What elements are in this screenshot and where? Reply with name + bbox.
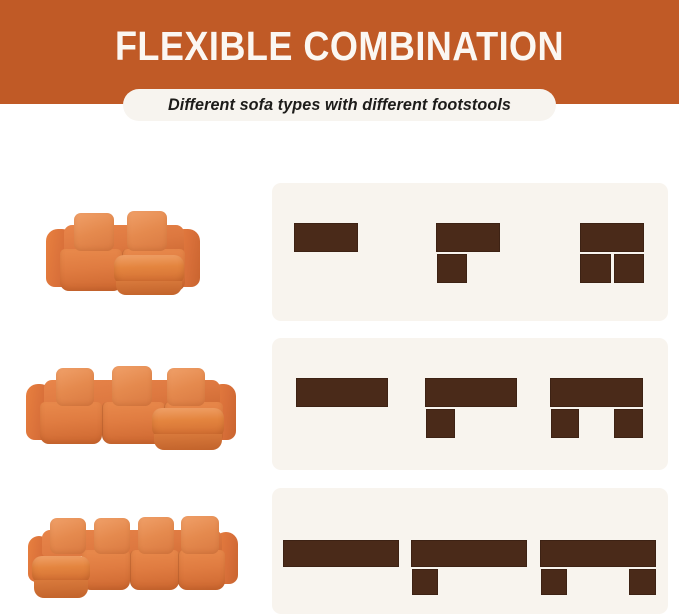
diagram-panel-four-seat (272, 488, 668, 614)
diagram-sofa-bar (436, 223, 500, 252)
diagram-sofa-bar (294, 223, 358, 252)
diagram-footstool-left (551, 409, 579, 438)
diagram-sofa-bar (580, 223, 644, 252)
diagram-footstool-left (541, 569, 567, 595)
diagram-footstool-left (412, 569, 438, 595)
diagram-footstool-left (437, 254, 467, 283)
page-title: FLEXIBLE COMBINATION (41, 22, 639, 70)
diagram-footstool-right (614, 254, 644, 283)
sofa-photo-three-seat (24, 338, 260, 466)
diagram-footstool-right (629, 569, 656, 595)
combination-row-two-seat (0, 183, 679, 323)
diagram-panel-two-seat (272, 183, 668, 321)
diagram-sofa-bar (550, 378, 643, 407)
diagram-footstool-left (580, 254, 611, 283)
combination-row-four-seat (0, 488, 679, 616)
diagram-sofa-bar (283, 540, 399, 567)
diagram-sofa-bar (411, 540, 527, 567)
diagram-sofa-bar (540, 540, 656, 567)
diagram-sofa-bar (296, 378, 388, 407)
diagram-footstool-left (426, 409, 455, 438)
sofa-photo-two-seat (24, 183, 260, 311)
page-subtitle: Different sofa types with different foot… (168, 95, 511, 115)
sofa-photo-four-seat (24, 488, 260, 616)
diagram-panel-three-seat (272, 338, 668, 470)
diagram-footstool-right (614, 409, 643, 438)
diagram-sofa-bar (425, 378, 517, 407)
subtitle-pill: Different sofa types with different foot… (123, 89, 556, 121)
combination-row-three-seat (0, 338, 679, 472)
